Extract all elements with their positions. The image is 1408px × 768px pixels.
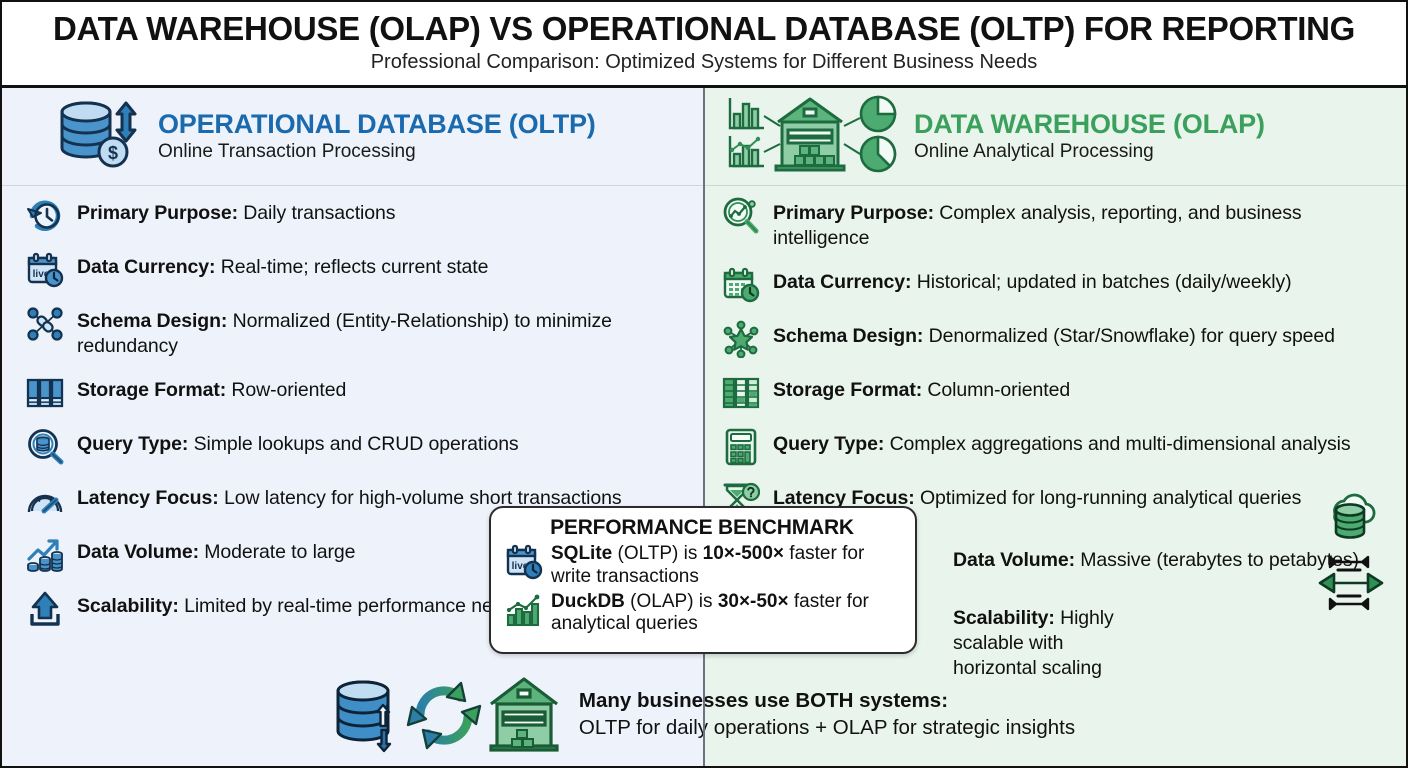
olap-subtitle: Online Analytical Processing: [914, 142, 1265, 163]
calculator-icon: [718, 427, 764, 467]
clock-rewind-icon: [22, 196, 68, 236]
list-item: Primary Purpose: Daily transactions: [22, 196, 693, 236]
magnifier-database-icon: [22, 427, 68, 467]
list-item: Schema Design: Normalized (Entity-Relati…: [22, 304, 693, 359]
database-dollar-icon: $: [56, 97, 142, 176]
calendar-live-icon: live: [503, 542, 545, 582]
list-item-text: Schema Design: Normalized (Entity-Relati…: [77, 304, 693, 359]
olap-title: DATA WAREHOUSE (OLAP): [914, 110, 1265, 138]
page-title: DATA WAREHOUSE (OLAP) VS OPERATIONAL DAT…: [53, 12, 1355, 47]
warehouse-analytics-icon: [722, 92, 898, 181]
cloud-database-icon: [1317, 484, 1383, 555]
svg-text:$: $: [108, 143, 118, 163]
infographic-page: DATA WAREHOUSE (OLAP) VS OPERATIONAL DAT…: [0, 0, 1408, 768]
benchmark-item: DuckDB (OLAP) is 30×-50× faster for anal…: [503, 590, 901, 636]
oltp-subtitle: Online Transaction Processing: [158, 142, 596, 163]
list-item: Storage Format: Column-oriented: [718, 373, 1398, 413]
calendar-live-icon: live: [22, 250, 68, 290]
list-item-text: Schema Design: Denormalized (Star/Snowfl…: [773, 319, 1398, 349]
list-item: Query Type: Complex aggregations and mul…: [718, 427, 1398, 467]
performance-benchmark-card: PERFORMANCE BENCHMARK live SQLite (OLTP)…: [489, 506, 917, 654]
list-item: live Data Currency: Real-time; reflects …: [22, 250, 693, 290]
star-schema-icon: [718, 319, 764, 359]
list-item: Schema Design: Denormalized (Star/Snowfl…: [718, 319, 1398, 359]
header-banner: DATA WAREHOUSE (OLAP) VS OPERATIONAL DAT…: [0, 0, 1408, 88]
bar-chart-line-icon: [503, 590, 545, 630]
network-link-icon: [22, 304, 68, 344]
oltp-column: $ OPERATIONAL DATABASE (OLTP) Online Tra…: [0, 88, 704, 768]
column-divider: [703, 88, 705, 768]
row-storage-icon: [22, 373, 68, 413]
list-item-text: Data Currency: Historical; updated in ba…: [773, 265, 1398, 295]
list-item-text: Storage Format: Row-oriented: [77, 373, 693, 403]
benchmark-item-text: DuckDB (OLAP) is 30×-50× faster for anal…: [551, 590, 901, 636]
oltp-column-header: $ OPERATIONAL DATABASE (OLTP) Online Tra…: [0, 88, 703, 186]
olap-column-header: DATA WAREHOUSE (OLAP) Online Analytical …: [704, 88, 1408, 186]
oltp-title: OPERATIONAL DATABASE (OLTP): [158, 110, 596, 138]
list-item-text: Query Type: Simple lookups and CRUD oper…: [77, 427, 693, 457]
growth-coins-icon: [22, 535, 68, 575]
list-item: Primary Purpose: Complex analysis, repor…: [718, 196, 1398, 251]
benchmark-item: live SQLite (OLTP) is 10×-500× faster fo…: [503, 542, 901, 588]
column-storage-icon: [718, 373, 764, 413]
horizontal-scale-icon: [1316, 548, 1386, 623]
list-item-text: Primary Purpose: Daily transactions: [77, 196, 693, 226]
speedometer-icon: [22, 481, 68, 521]
list-item-text: Storage Format: Column-oriented: [773, 373, 1398, 403]
benchmark-item-text: SQLite (OLTP) is 10×-500× faster for wri…: [551, 542, 901, 588]
list-item-text: Query Type: Complex aggregations and mul…: [773, 427, 1398, 457]
olap-column: DATA WAREHOUSE (OLAP) Online Analytical …: [704, 88, 1408, 768]
list-item-text: Data Currency: Real-time; reflects curre…: [77, 250, 693, 280]
list-item: Data Currency: Historical; updated in ba…: [718, 265, 1398, 305]
page-subtitle: Professional Comparison: Optimized Syste…: [371, 51, 1038, 73]
list-item: Storage Format: Row-oriented: [22, 373, 693, 413]
magnifier-chart-icon: [718, 196, 764, 236]
calendar-clock-icon: [718, 265, 764, 305]
benchmark-title: PERFORMANCE BENCHMARK: [503, 516, 901, 539]
upload-arrow-icon: [22, 589, 68, 629]
list-item-text: Primary Purpose: Complex analysis, repor…: [773, 196, 1398, 251]
list-item: Query Type: Simple lookups and CRUD oper…: [22, 427, 693, 467]
